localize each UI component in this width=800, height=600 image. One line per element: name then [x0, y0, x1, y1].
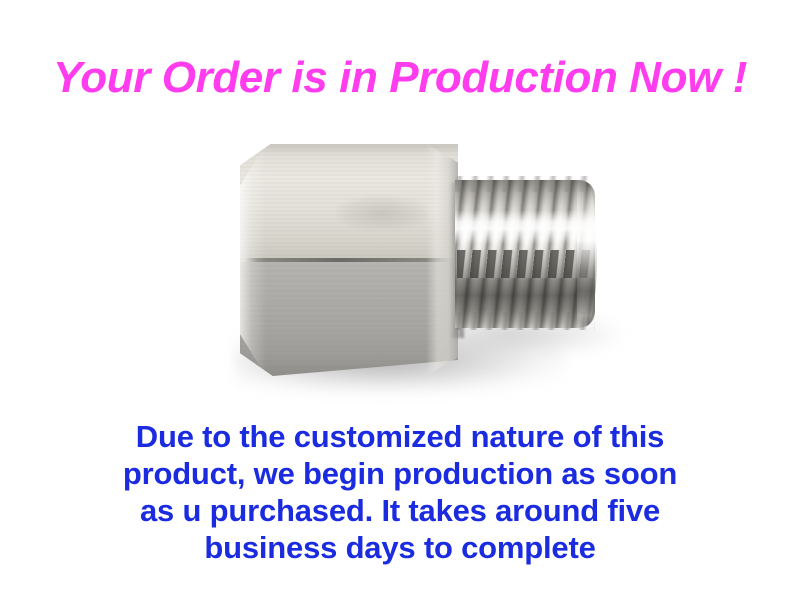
product-image: [190, 120, 630, 410]
body-copy: Due to the customized nature of this pro…: [0, 418, 800, 566]
thread-specular-highlight: [455, 210, 595, 244]
hex-bottom-face: [240, 262, 458, 376]
promotional-banner: Your Order is in Production Now ! Due: [0, 0, 800, 600]
thread-end-cap: [577, 184, 597, 324]
body-copy-line-2: product, we begin production as soon: [0, 455, 800, 492]
body-copy-line-1: Due to the customized nature of this: [0, 418, 800, 455]
headline-text: Your Order is in Production Now !: [0, 52, 800, 104]
thread-crest-bottom: [455, 312, 595, 330]
body-copy-line-4: business days to complete: [0, 529, 800, 566]
body-copy-line-3: as u purchased. It takes around five: [0, 492, 800, 529]
thread-crest-top: [455, 176, 595, 192]
thread-root-shadows: [457, 250, 593, 278]
hex-edge-line: [244, 258, 456, 262]
male-threaded-nipple: [455, 180, 595, 328]
hex-nut-body: [240, 144, 458, 376]
hex-stamped-marking: [336, 196, 428, 230]
